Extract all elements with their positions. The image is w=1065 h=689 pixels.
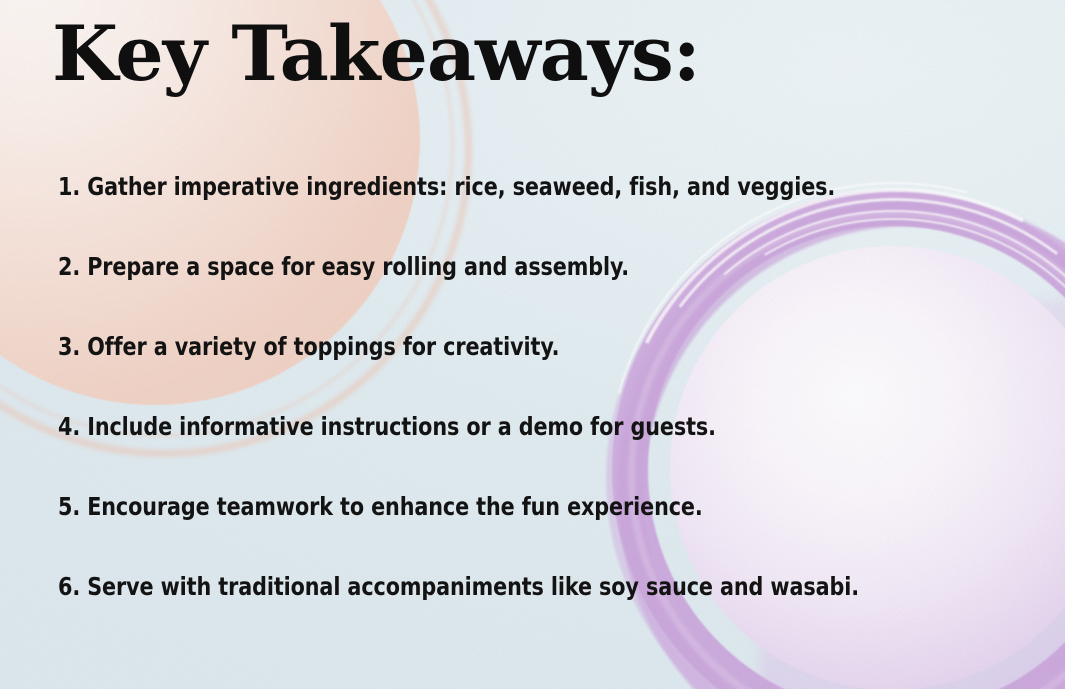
list-item: 3. Offer a variety of toppings for creat…	[58, 306, 932, 386]
list-item: 5. Encourage teamwork to enhance the fun…	[58, 466, 932, 546]
list-item: 4. Include informative instructions or a…	[58, 386, 932, 466]
list-item: 2. Prepare a space for easy rolling and …	[58, 226, 932, 306]
list-item: 6. Serve with traditional accompaniments…	[58, 546, 932, 626]
slide-canvas: Key Takeaways: 1. Gather imperative ingr…	[0, 0, 1065, 689]
page-title: Key Takeaways:	[52, 14, 700, 94]
list-item: 1. Gather imperative ingredients: rice, …	[58, 146, 932, 226]
takeaways-list: 1. Gather imperative ingredients: rice, …	[58, 146, 988, 626]
